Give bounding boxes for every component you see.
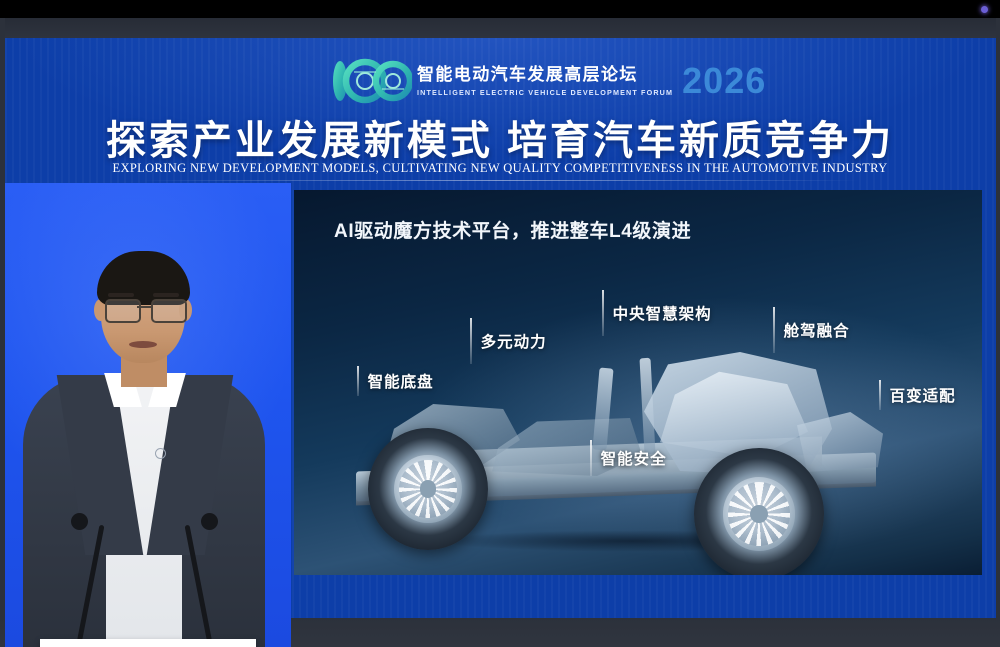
callout-cockpit-driving-fusion: 舱驾融合 <box>773 307 850 353</box>
callout-label: 智能底盘 <box>368 370 434 392</box>
callout-flexible-adaptation: 百变适配 <box>879 380 956 410</box>
page-subtitle: EXPLORING NEW DEVELOPMENT MODELS, CULTIV… <box>0 161 1000 176</box>
callout-tick <box>470 318 472 364</box>
speaker-lapel-pin <box>155 448 166 459</box>
speaker-mouth <box>129 341 157 348</box>
forum-logo-lockup: 智能电动汽车发展高层论坛 INTELLIGENT ELECTRIC VEHICL… <box>330 57 766 105</box>
speaker-glasses-right <box>151 299 187 323</box>
callout-label: 多元动力 <box>481 330 547 352</box>
podium-sign: 智能电动汽车发展高层论坛 INTELLIGENT ELECTRIC VEHICL… <box>40 639 256 647</box>
microphone-head-left <box>71 513 88 530</box>
speaker-brow-right <box>153 293 179 297</box>
top-black-bar <box>0 0 1000 18</box>
callout-label: 中央智慧架构 <box>613 302 712 324</box>
callout-tick <box>602 290 604 336</box>
forum-100-logo-icon <box>330 58 412 104</box>
callout-tick <box>357 366 359 396</box>
presentation-slide: AI驱动魔方技术平台，推进整车L4级演进 智能底盘 <box>294 190 982 575</box>
microphone-head-right <box>201 513 218 530</box>
callout-label: 百变适配 <box>890 384 956 406</box>
title-divider <box>140 180 860 181</box>
rear-wheel <box>368 428 488 550</box>
front-wheel <box>694 448 824 575</box>
callout-smart-chassis: 智能底盘 <box>357 366 434 396</box>
speaker-glasses-bridge <box>137 306 151 308</box>
callout-smart-safety: 智能安全 <box>590 440 667 476</box>
callout-multi-power: 多元动力 <box>470 318 547 364</box>
broadcast-stage: 智能电动汽车发展高层论坛 INTELLIGENT ELECTRIC VEHICL… <box>0 0 1000 647</box>
speaker-brow-left <box>108 293 134 297</box>
forum-logo-title-cn: 智能电动汽车发展高层论坛 <box>417 65 673 85</box>
speaker-glasses-left <box>105 299 141 323</box>
forum-logo-title-en: INTELLIGENT ELECTRIC VEHICLE DEVELOPMENT… <box>417 88 673 98</box>
callout-tick <box>879 380 881 410</box>
callout-label: 智能安全 <box>601 447 667 469</box>
speaker-video-panel: 智能电动汽车发展高层论坛 INTELLIGENT ELECTRIC VEHICL… <box>5 183 291 647</box>
callout-central-architecture: 中央智慧架构 <box>602 290 712 336</box>
callout-tick <box>773 307 775 353</box>
frame-top <box>0 18 1000 38</box>
forum-logo-text: 智能电动汽车发展高层论坛 INTELLIGENT ELECTRIC VEHICL… <box>417 59 673 103</box>
slide-heading: AI驱动魔方技术平台，推进整车L4级演进 <box>334 216 691 243</box>
recording-dot-icon <box>981 6 988 13</box>
callout-tick <box>590 440 592 476</box>
forum-logo-year: 2026 <box>682 63 766 99</box>
page-title: 探索产业发展新模式 培育汽车新质竞争力 <box>0 108 1000 166</box>
callout-label: 舱驾融合 <box>784 319 850 341</box>
